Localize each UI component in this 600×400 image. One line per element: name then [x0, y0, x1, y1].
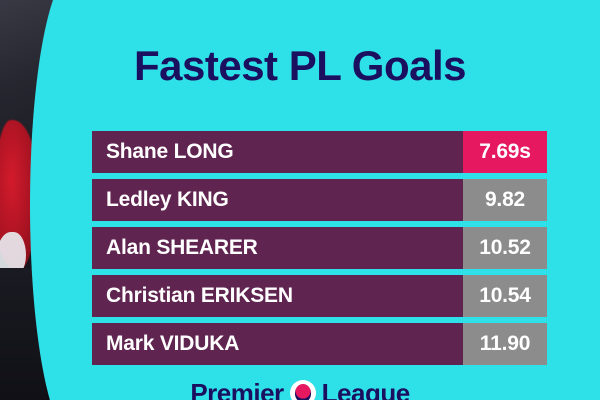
- player-name: Christian ERIKSEN: [92, 275, 463, 317]
- player-time: 9.82: [463, 179, 547, 221]
- fastest-goals-table: Shane LONG 7.69s Ledley KING 9.82 Alan S…: [92, 131, 547, 371]
- player-time: 10.54: [463, 275, 547, 317]
- player-name: Shane LONG: [92, 131, 463, 173]
- table-row: Alan SHEARER 10.52: [92, 227, 547, 269]
- table-row: Ledley KING 9.82: [92, 179, 547, 221]
- table-row: Shane LONG 7.69s: [92, 131, 547, 173]
- brand-second-word: League: [322, 380, 410, 400]
- infographic-root: Fastest PL Goals Shane LONG 7.69s Ledley…: [0, 0, 600, 400]
- player-time: 10.52: [463, 227, 547, 269]
- player-name: Mark VIDUKA: [92, 323, 463, 365]
- table-row: Christian ERIKSEN 10.54: [92, 275, 547, 317]
- premier-league-footer: Premier League: [0, 380, 600, 400]
- player-name: Ledley KING: [92, 179, 463, 221]
- table-row: Mark VIDUKA 11.90: [92, 323, 547, 365]
- player-time: 7.69s: [463, 131, 547, 173]
- brand-first-word: Premier: [190, 380, 283, 400]
- player-name: Alan SHEARER: [92, 227, 463, 269]
- page-title: Fastest PL Goals: [0, 42, 600, 90]
- premier-league-lion-icon: [290, 380, 316, 400]
- player-time: 11.90: [463, 323, 547, 365]
